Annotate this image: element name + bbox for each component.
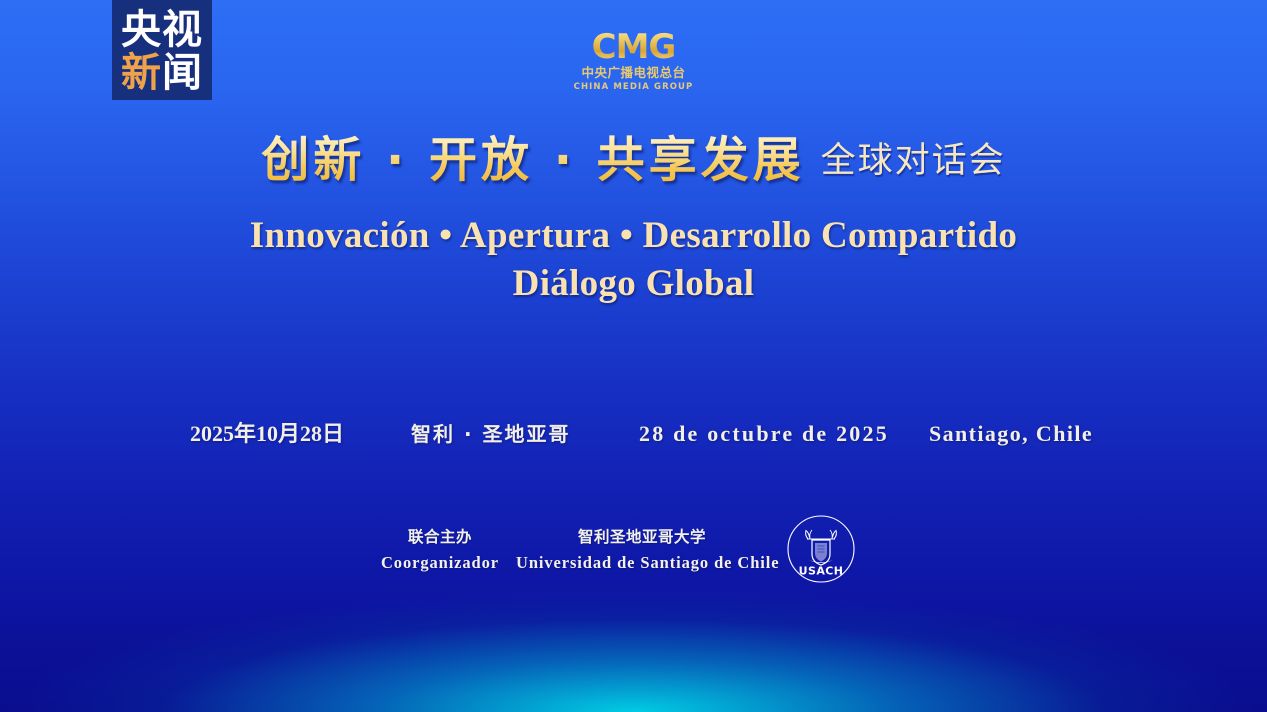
page-title-spanish-line2: Diálogo Global: [0, 260, 1267, 308]
broadcast-title-card: 央视 新 闻 CMG 中央广播电视总台 CHINA MEDIA GROUP 创新…: [0, 0, 1267, 712]
cmg-logo: CMG 中央广播电视总台 CHINA MEDIA GROUP: [0, 30, 1267, 91]
usach-logo-icon: USACH: [786, 514, 856, 584]
event-meta-row: 2025年10月28日 智利 · 圣地亚哥 28 de octubre de 2…: [0, 418, 1267, 450]
page-title-chinese-main: 创新 · 开放 · 共享发展: [261, 132, 804, 188]
event-date-spanish: 28 de octubre de 2025: [639, 418, 889, 450]
organizer-role-spanish: Coorganizador: [380, 552, 500, 573]
organizer-name-chinese: 智利圣地亚哥大学: [516, 528, 768, 548]
organizer-name: 智利圣地亚哥大学 Universidad de Santiago de Chil…: [516, 528, 768, 573]
page-title-chinese-sub: 全球对话会: [821, 141, 1006, 181]
page-title-spanish-line1: Innovación • Apertura • Desarrollo Compa…: [0, 212, 1267, 260]
usach-logo: USACH: [786, 514, 856, 584]
cmg-logo-letters: CMG: [592, 30, 676, 64]
cmg-logo-chinese-name: 中央广播电视总台: [581, 67, 685, 80]
organizer-block: 联合主办 Coorganizador 智利圣地亚哥大学 Universidad …: [0, 528, 1267, 588]
page-title-spanish: Innovación • Apertura • Desarrollo Compa…: [0, 212, 1267, 308]
organizer-name-spanish: Universidad de Santiago de Chile: [516, 552, 768, 573]
organizer-role: 联合主办 Coorganizador: [380, 528, 500, 573]
organizer-role-chinese: 联合主办: [380, 528, 500, 548]
event-place-spanish: Santiago, Chile: [929, 418, 1093, 450]
event-date-chinese: 2025年10月28日: [190, 418, 344, 450]
page-title-chinese: 创新 · 开放 · 共享发展全球对话会: [0, 136, 1267, 184]
usach-logo-text: USACH: [799, 565, 844, 578]
event-place-chinese: 智利 · 圣地亚哥: [411, 418, 571, 450]
cmg-logo-english-name: CHINA MEDIA GROUP: [574, 83, 694, 92]
